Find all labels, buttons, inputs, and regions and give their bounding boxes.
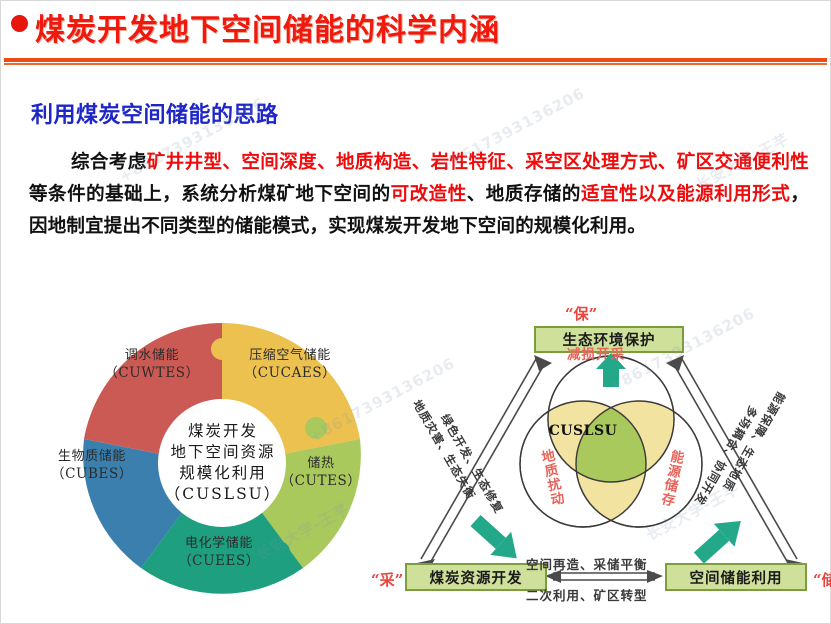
section-subheading: 利用煤炭空间储能的思路 (31, 97, 279, 129)
node-space-energy-storage-use[interactable]: 空间储能利用 (665, 563, 807, 591)
quote-label-bao: “保” (565, 303, 597, 324)
body-segment-2: 等条件的基础上，系统分析煤矿地下空间的 (29, 184, 391, 205)
donut-hole (158, 399, 286, 527)
body-segment-4: 、地质存储的 (467, 184, 581, 205)
quote-label-cai: “采” (371, 569, 403, 590)
body-segment-1: 矿井井型、空间深度、地质构造、岩性特征、采空区处理方式、矿区交通便利性 (147, 152, 809, 173)
storage-types-donut-figure: 煤炭开发 地下空间资源 规模化利用 （CUSLSU） 压缩空气储能 （CUCAE… (63, 313, 381, 613)
header-divider-secondary (4, 63, 827, 65)
header-divider-primary (4, 58, 827, 62)
body-segment-5: 适宜性以及能源利用形式 (581, 184, 790, 205)
arrow-down-right (689, 509, 751, 570)
slide-root: 煤炭开发地下空间储能的科学内涵 利用煤炭空间储能的思路 综合考虑矿井井型、空间深… (0, 0, 831, 624)
bottom-edge-lower-label: 二次利用、矿区转型 (526, 585, 648, 604)
body-paragraph: 综合考虑矿井井型、空间深度、地质构造、岩性特征、采空区处理方式、矿区交通便利性等… (29, 147, 809, 243)
bottom-edge-upper-label: 空间再造、采储平衡 (526, 554, 648, 573)
cai-bao-chu-triangle-figure: 生态环境保护 煤炭资源开发 空间储能利用 “保” “采” “储” 地质灾害、生态… (393, 301, 829, 619)
body-segment-0: 综合考虑 (71, 152, 147, 173)
slide-header: 煤炭开发地下空间储能的科学内涵 (1, 1, 831, 63)
arrow-down-left (465, 509, 527, 570)
body-segment-3: 可改造性 (391, 184, 467, 205)
bullet-icon (11, 15, 28, 32)
venn-label-cuslsu: CUSLSU (540, 423, 626, 439)
page-title: 煤炭开发地下空间储能的科学内涵 (35, 5, 500, 49)
quote-label-chu: “储” (813, 569, 831, 590)
donut-chart-svg (63, 313, 381, 613)
bottom-bidirectional-arrows (553, 573, 655, 580)
venn-label-reduced-mining: 减损开采 (567, 343, 625, 363)
